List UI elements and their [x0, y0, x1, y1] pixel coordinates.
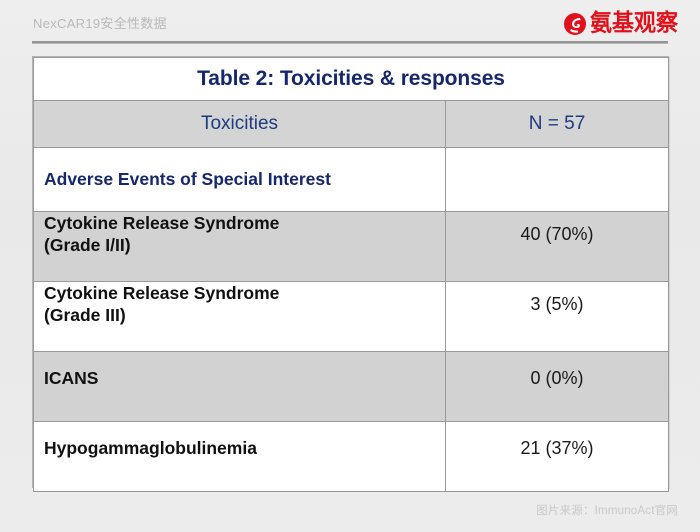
toxicity-table: Table 2: Toxicities & responses Toxiciti… — [33, 57, 669, 492]
row-crs1-value: 40 (70%) — [456, 224, 658, 245]
row-icans-value: 0 (0%) — [456, 368, 658, 389]
table-row: Hypogammaglobulinemia 21 (37%) — [34, 422, 669, 492]
row-icans-label-cell: ICANS — [34, 352, 446, 422]
row-crs3-label-line1: Cytokine Release Syndrome — [44, 283, 279, 303]
column-header-toxicities-label: Toxicities — [201, 113, 278, 134]
row-section-label: Adverse Events of Special Interest — [44, 169, 331, 189]
brand-logo: 氨基观察 — [563, 10, 678, 38]
row-crs3-label-cell: Cytokine Release Syndrome (Grade III) — [34, 282, 446, 352]
swirl-circle-icon — [563, 12, 587, 36]
row-crs1-label: Cytokine Release Syndrome (Grade I/II) — [44, 213, 435, 256]
row-icans-value-cell: 0 (0%) — [446, 352, 669, 422]
table-header-row: Toxicities N = 57 — [34, 101, 669, 148]
column-header-toxicities: Toxicities — [34, 101, 446, 148]
table-row: Adverse Events of Special Interest — [34, 148, 669, 212]
header-divider — [32, 41, 668, 44]
table-row: Cytokine Release Syndrome (Grade I/II) 4… — [34, 212, 669, 282]
row-crs3-value-cell: 3 (5%) — [446, 282, 669, 352]
row-crs3-value: 3 (5%) — [456, 294, 658, 315]
brand-logo-text: 氨基观察 — [590, 12, 678, 35]
row-crs3-label: Cytokine Release Syndrome (Grade III) — [44, 283, 435, 326]
row-section-value-cell — [446, 148, 669, 212]
image-source-caption: 图片来源：ImmunoAct官网 — [536, 502, 678, 518]
row-crs1-label-cell: Cytokine Release Syndrome (Grade I/II) — [34, 212, 446, 282]
table-container: Table 2: Toxicities & responses Toxiciti… — [32, 56, 669, 488]
table-title-row: Table 2: Toxicities & responses — [34, 58, 669, 101]
row-crs3-label-line2: (Grade III) — [44, 305, 126, 325]
row-crs1-value-cell: 40 (70%) — [446, 212, 669, 282]
row-hypogamma-value: 21 (37%) — [456, 438, 658, 459]
page-title: NexCAR19安全性数据 — [33, 13, 167, 32]
table-title: Table 2: Toxicities & responses — [197, 67, 505, 90]
row-icans-label: ICANS — [44, 368, 435, 389]
row-crs1-label-line2: (Grade I/II) — [44, 235, 131, 255]
slide-background: NexCAR19安全性数据 氨基观察 Table 2: Tox — [0, 0, 700, 532]
slide-header: NexCAR19安全性数据 氨基观察 — [0, 0, 700, 42]
table-title-cell: Table 2: Toxicities & responses — [34, 58, 669, 101]
row-hypogamma-label-cell: Hypogammaglobulinemia — [34, 422, 446, 492]
table-row: Cytokine Release Syndrome (Grade III) 3 … — [34, 282, 669, 352]
row-hypogamma-value-cell: 21 (37%) — [446, 422, 669, 492]
row-crs1-label-line1: Cytokine Release Syndrome — [44, 213, 279, 233]
row-hypogamma-label: Hypogammaglobulinemia — [44, 438, 435, 459]
column-header-n: N = 57 — [446, 101, 669, 148]
column-header-n-label: N = 57 — [529, 113, 586, 134]
table-row: ICANS 0 (0%) — [34, 352, 669, 422]
row-section-label-cell: Adverse Events of Special Interest — [34, 148, 446, 212]
